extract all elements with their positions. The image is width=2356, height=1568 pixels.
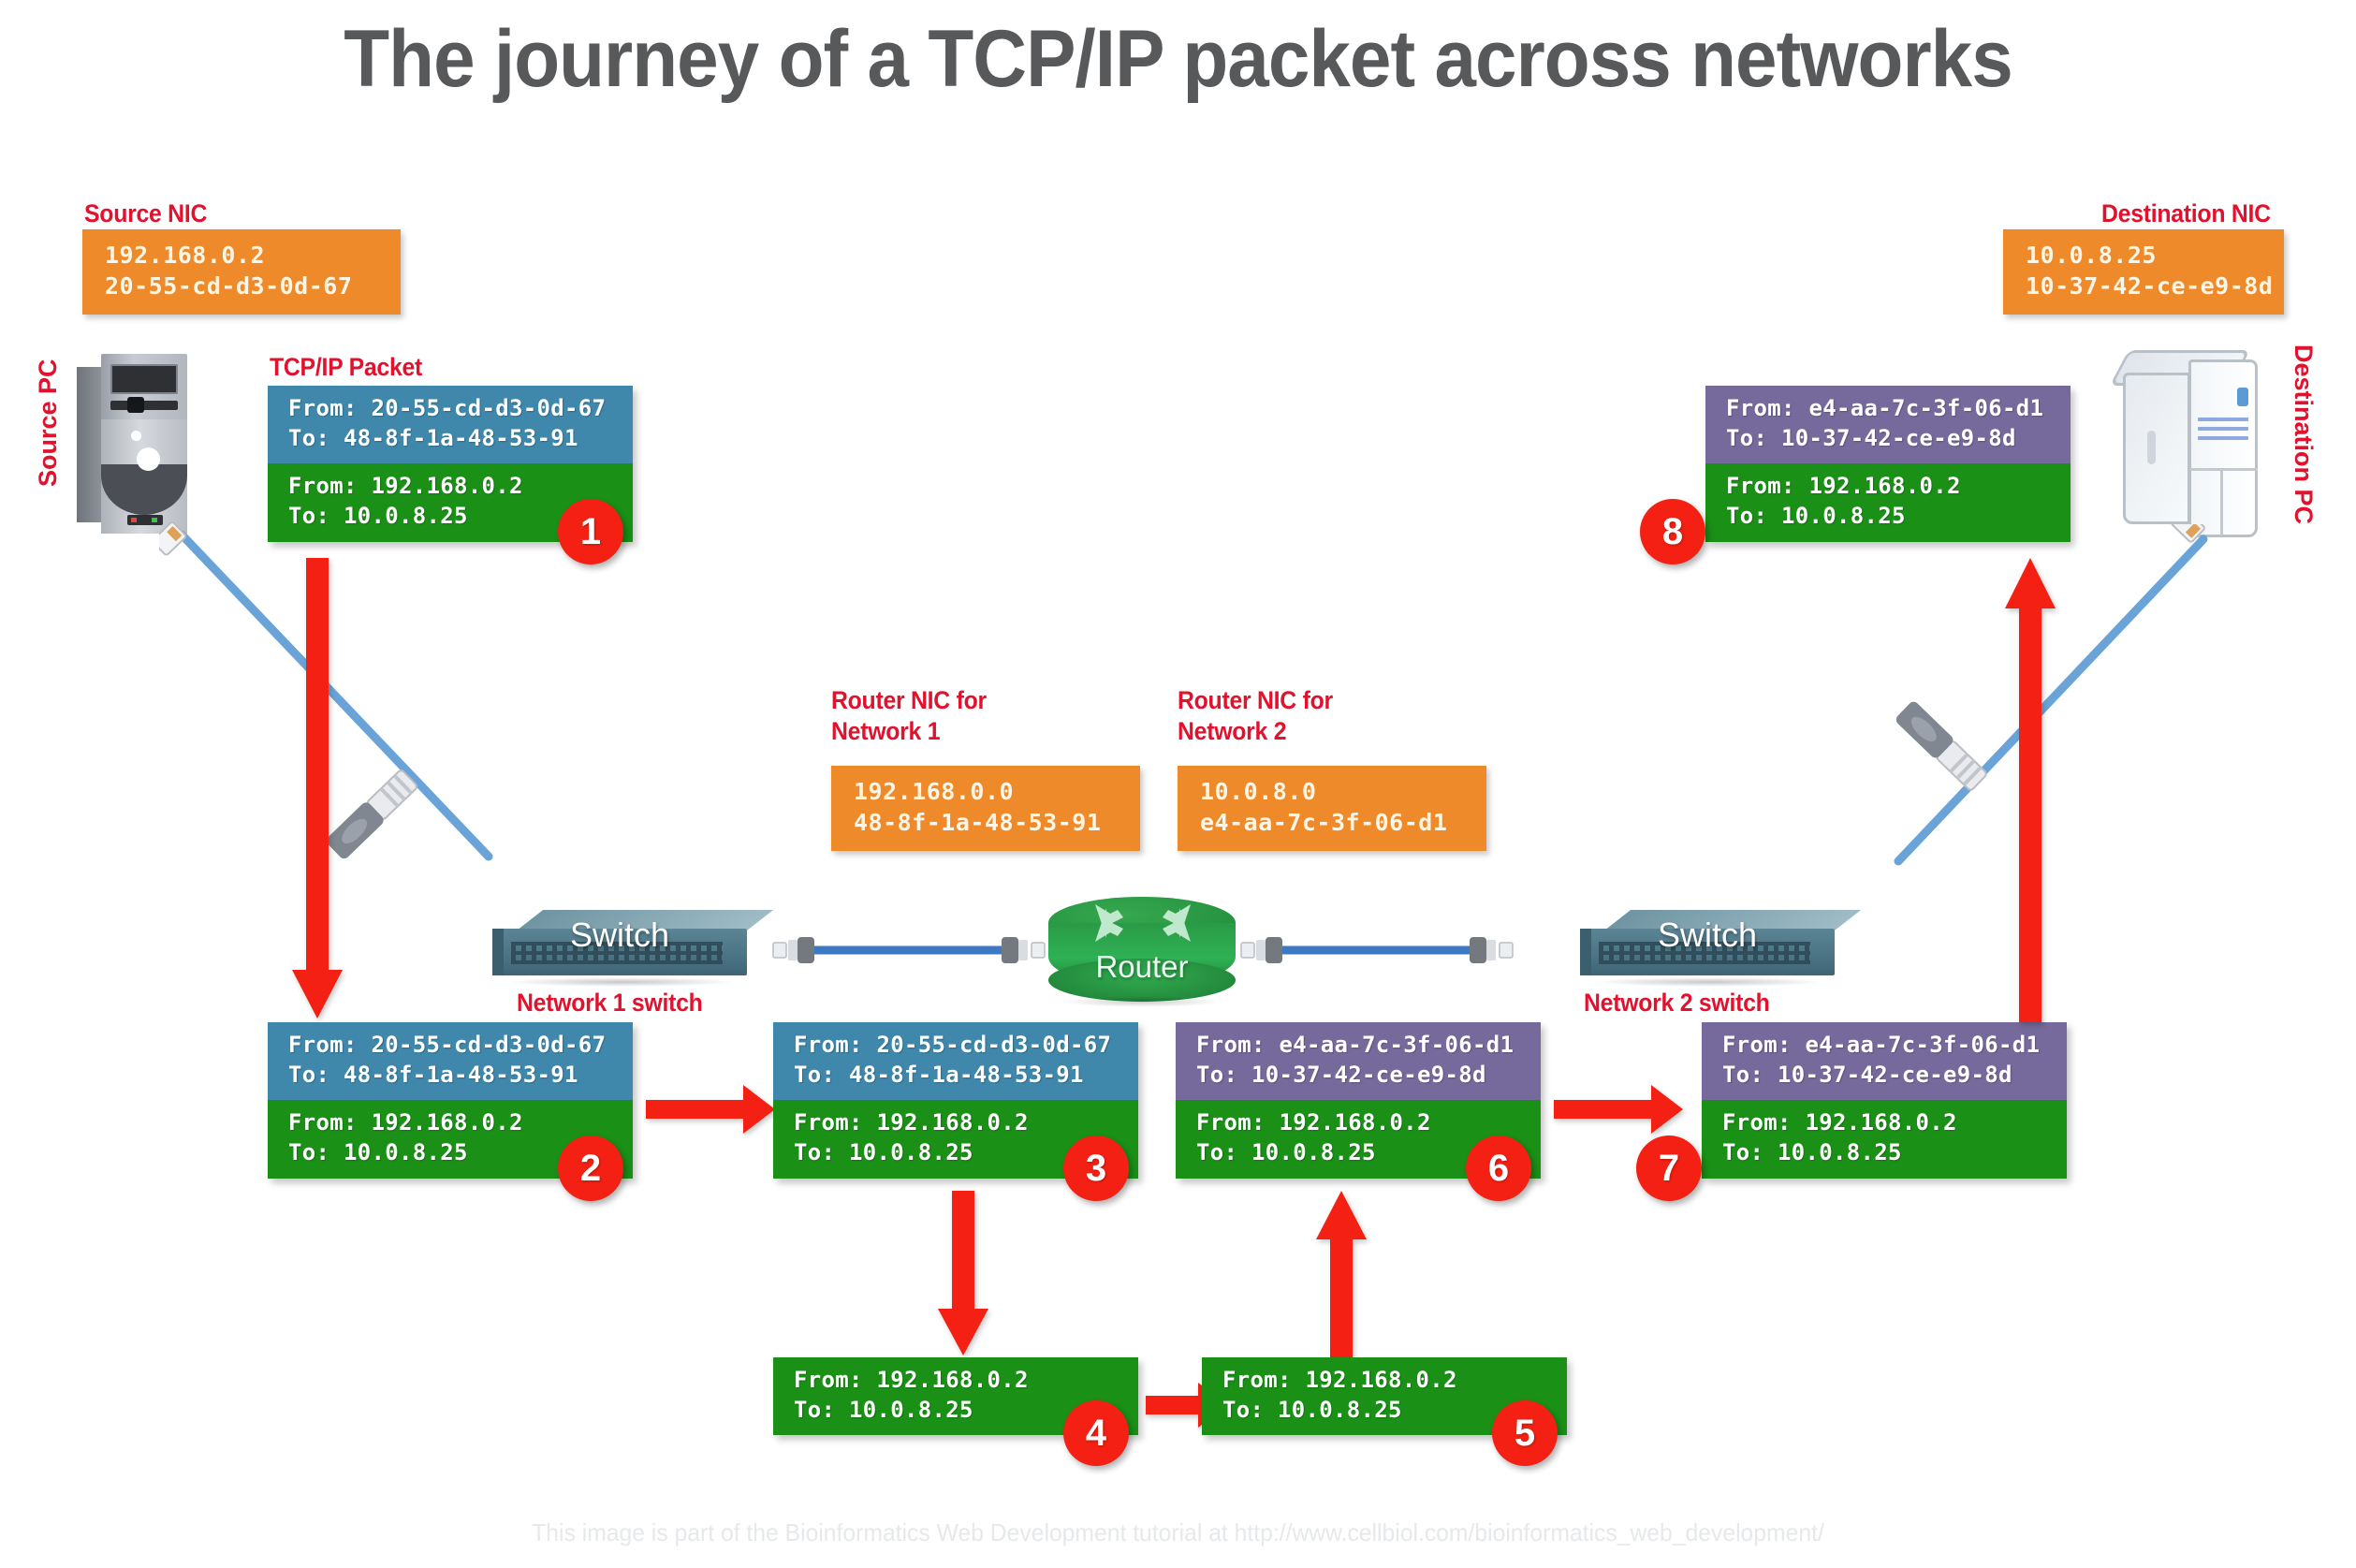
packet-6-mac-from: From: e4-aa-7c-3f-06-d1 (1196, 1031, 1528, 1061)
packet-2-mac-from: From: 20-55-cd-d3-0d-67 (288, 1031, 620, 1061)
packet-7-ip-segment: From: 192.168.0.2 To: 10.0.8.25 (1702, 1100, 2067, 1178)
destination-nic-mac: 10-37-42-ce-e9-8d (2026, 271, 2269, 302)
packet-5-ip-from: From: 192.168.0.2 (1222, 1366, 1554, 1396)
network-2-switch-device-label: Switch (1580, 916, 1835, 955)
packet-2-mac-to: To: 48-8f-1a-48-53-91 (288, 1061, 620, 1091)
packet-8-ip-from: From: 192.168.0.2 (1726, 472, 2057, 502)
router-nic-net1-ip: 192.168.0.0 (854, 777, 1125, 808)
destination-pc-icon (2123, 344, 2273, 546)
packet-6-mac-segment: From: e4-aa-7c-3f-06-d1 To: 10-37-42-ce-… (1176, 1022, 1541, 1100)
step-badge-2: 2 (558, 1136, 623, 1201)
router-nic-net1-mac: 48-8f-1a-48-53-91 (854, 808, 1125, 839)
network-2-switch-label: Network 2 switch (1584, 988, 1770, 1018)
packet-1-mac-to: To: 48-8f-1a-48-53-91 (288, 424, 620, 454)
destination-nic-label: Destination NIC (2101, 198, 2271, 229)
step-badge-3: 3 (1063, 1136, 1129, 1201)
packet-6-mac-to: To: 10-37-42-ce-e9-8d (1196, 1061, 1528, 1091)
tcpip-packet-label: TCP/IP Packet (270, 352, 422, 383)
packet-4-ip-from: From: 192.168.0.2 (794, 1366, 1125, 1396)
packet-7-mac-to: To: 10-37-42-ce-e9-8d (1722, 1061, 2054, 1091)
router-icon: Router (1048, 897, 1236, 1002)
arrow-step-3-to-4 (936, 1191, 992, 1359)
packet-8-mac-from: From: e4-aa-7c-3f-06-d1 (1726, 394, 2057, 424)
step-badge-1: 1 (558, 499, 623, 564)
packet-3-mac-segment: From: 20-55-cd-d3-0d-67 To: 48-8f-1a-48-… (773, 1022, 1138, 1100)
footer-attribution: This image is part of the Bioinformatics… (59, 1518, 2297, 1547)
packet-1-mac-from: From: 20-55-cd-d3-0d-67 (288, 394, 620, 424)
destination-pc-label: Destination PC (2289, 344, 2318, 524)
router-nic-net2-label: Router NIC for Network 2 (1178, 685, 1333, 747)
source-network-cable (159, 520, 552, 913)
source-nic-mac: 20-55-cd-d3-0d-67 (105, 271, 386, 302)
router-nic-net2-box: 10.0.8.0 e4-aa-7c-3f-06-d1 (1178, 766, 1486, 851)
step-badge-8: 8 (1640, 499, 1705, 564)
page-title: The journey of a TCP/IP packet across ne… (82, 13, 2274, 106)
packet-1-mac-segment: From: 20-55-cd-d3-0d-67 To: 48-8f-1a-48-… (268, 386, 633, 463)
packet-8-mac-to: To: 10-37-42-ce-e9-8d (1726, 424, 2057, 454)
router-nic-net1-box: 192.168.0.0 48-8f-1a-48-53-91 (831, 766, 1140, 851)
packet-2-ip-from: From: 192.168.0.2 (288, 1108, 620, 1138)
router-nic-net2-mac: e4-aa-7c-3f-06-d1 (1200, 808, 1471, 839)
source-nic-ip: 192.168.0.2 (105, 241, 386, 271)
packet-6-ip-from: From: 192.168.0.2 (1196, 1108, 1528, 1138)
destination-nic-box: 10.0.8.25 10-37-42-ce-e9-8d (2003, 229, 2284, 315)
step-badge-7: 7 (1636, 1136, 1702, 1201)
packet-1-ip-from: From: 192.168.0.2 (288, 472, 620, 502)
network-2-switch-icon: Switch (1580, 910, 1835, 989)
step-badge-5: 5 (1492, 1400, 1558, 1466)
packet-7-ip-from: From: 192.168.0.2 (1722, 1108, 2054, 1138)
destination-nic-ip: 10.0.8.25 (2026, 241, 2269, 271)
packet-7-mac-segment: From: e4-aa-7c-3f-06-d1 To: 10-37-42-ce-… (1702, 1022, 2067, 1100)
network-1-switch-label: Network 1 switch (517, 988, 703, 1018)
packet-step-7: From: e4-aa-7c-3f-06-d1 To: 10-37-42-ce-… (1702, 1022, 2067, 1179)
packet-2-mac-segment: From: 20-55-cd-d3-0d-67 To: 48-8f-1a-48-… (268, 1022, 633, 1100)
arrow-step-2-to-3 (646, 1081, 777, 1141)
packet-3-ip-from: From: 192.168.0.2 (794, 1108, 1125, 1138)
router-nic-net2-ip: 10.0.8.0 (1200, 777, 1471, 808)
arrow-step-6-to-7 (1554, 1081, 1685, 1141)
network-1-switch-icon: Switch (492, 910, 747, 989)
source-pc-label: Source PC (34, 359, 63, 487)
packet-8-mac-segment: From: e4-aa-7c-3f-06-d1 To: 10-37-42-ce-… (1705, 386, 2071, 463)
router-device-label: Router (1048, 949, 1236, 985)
router-nic-net1-label: Router NIC for Network 1 (831, 685, 987, 747)
packet-step-8: From: e4-aa-7c-3f-06-d1 To: 10-37-42-ce-… (1705, 386, 2071, 542)
source-nic-label: Source NIC (84, 198, 207, 229)
router-switch2-cable (1236, 927, 1516, 974)
packet-7-ip-to: To: 10.0.8.25 (1722, 1138, 2054, 1168)
step-badge-6: 6 (1466, 1136, 1531, 1201)
arrow-step-5-to-6 (1314, 1191, 1370, 1359)
network-1-switch-device-label: Switch (492, 916, 747, 955)
source-pc-icon (77, 354, 198, 541)
packet-7-mac-from: From: e4-aa-7c-3f-06-d1 (1722, 1031, 2054, 1061)
step-badge-4: 4 (1063, 1400, 1129, 1466)
arrow-step-1-to-2 (290, 558, 346, 1022)
switch1-router-cable (768, 927, 1048, 974)
source-nic-box: 192.168.0.2 20-55-cd-d3-0d-67 (82, 229, 401, 315)
diagram-canvas: The journey of a TCP/IP packet across ne… (0, 0, 2356, 1568)
arrow-step-7-to-8 (2003, 558, 2059, 1022)
packet-3-mac-from: From: 20-55-cd-d3-0d-67 (794, 1031, 1125, 1061)
router-arrows-icon (1091, 899, 1194, 947)
packet-3-mac-to: To: 48-8f-1a-48-53-91 (794, 1061, 1125, 1091)
